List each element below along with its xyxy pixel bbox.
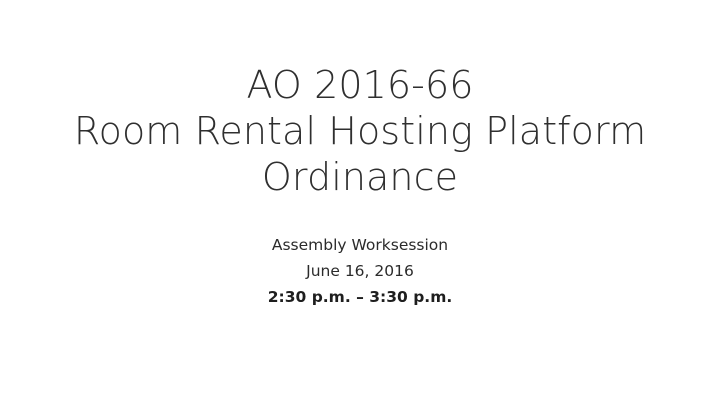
title-line-1: AO 2016-66 [36,62,684,108]
title-line-3: Ordinance [36,154,684,200]
subtitle-line-date: June 16, 2016 [36,258,684,284]
title-slide: AO 2016-66 Room Rental Hosting Platform … [0,0,720,405]
subtitle-line-event: Assembly Worksession [36,232,684,258]
slide-title: AO 2016-66 Room Rental Hosting Platform … [36,62,684,200]
slide-subtitle: Assembly Worksession June 16, 2016 2:30 … [36,232,684,310]
subtitle-line-time: 2:30 p.m. – 3:30 p.m. [36,284,684,310]
title-line-2: Room Rental Hosting Platform [36,108,684,154]
